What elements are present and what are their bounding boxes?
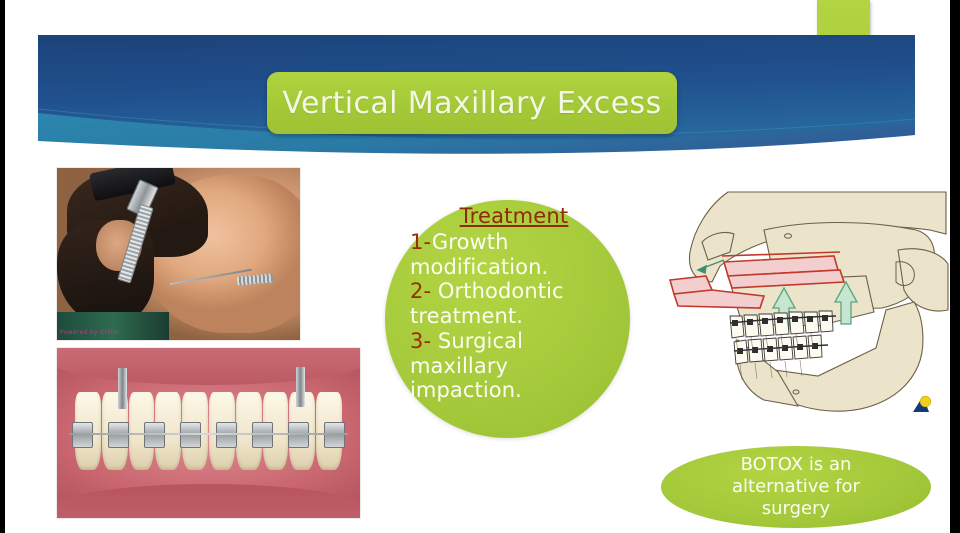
archwire xyxy=(69,433,348,435)
skull-illustration xyxy=(668,190,950,435)
botox-line: BOTOX is an xyxy=(732,454,860,476)
photo-watermark: Powered by Ortho xyxy=(60,329,119,336)
botox-callout: BOTOX is an alternative for surgery xyxy=(661,446,931,528)
treatment-line: 1-Growth xyxy=(398,230,630,255)
letterbox-bar-right xyxy=(950,0,960,533)
treatment-line: 3- Surgical xyxy=(398,329,630,354)
page-title: Vertical Maxillary Excess xyxy=(282,86,661,121)
treatment-text-block: Treatment 1-Growth modification. 2- Orth… xyxy=(398,204,630,403)
lefort-osteotomy-skull-diagram xyxy=(668,190,950,435)
mini-screw-left xyxy=(118,368,127,409)
botox-text-block: BOTOX is an alternative for surgery xyxy=(732,454,860,521)
treatment-line: 2- Orthodontic xyxy=(398,279,630,304)
intraoral-braces-photo xyxy=(57,348,360,518)
treatment-line: impaction. xyxy=(398,378,630,403)
letterbox-bar-left xyxy=(0,0,5,533)
treatment-line: maxillary xyxy=(398,354,630,379)
slide-canvas: Vertical Maxillary Excess Powered by Ort… xyxy=(0,0,960,533)
treatment-heading: Treatment xyxy=(398,204,630,229)
logo-icon xyxy=(911,394,933,414)
boy-orthodontic-headgear-photo: Powered by Ortho xyxy=(57,168,300,340)
slide-title-box: Vertical Maxillary Excess xyxy=(267,72,677,134)
presentation-logo xyxy=(911,394,933,414)
treatment-line: modification. xyxy=(398,255,630,280)
botox-line: surgery xyxy=(732,498,860,520)
mini-screw-right xyxy=(296,367,305,408)
botox-line: alternative for xyxy=(732,476,860,498)
treatment-line: treatment. xyxy=(398,304,630,329)
